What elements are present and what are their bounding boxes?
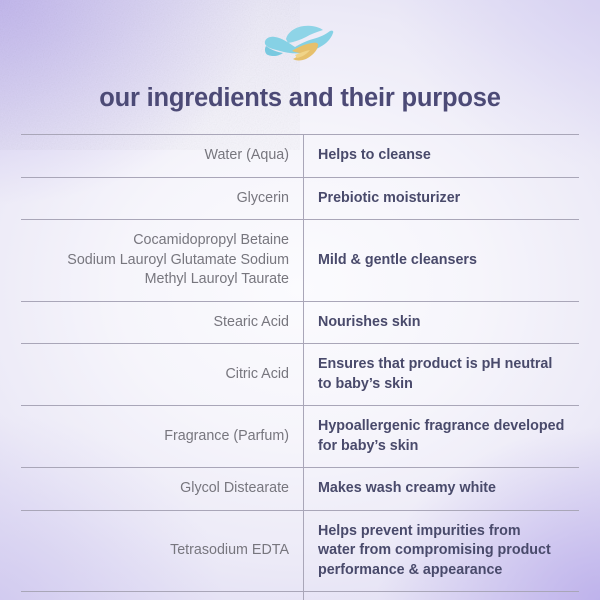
purpose-line: Makes wash creamy white — [318, 479, 496, 499]
ingredient-line: Tetrasodium EDTA — [170, 541, 289, 561]
purpose-line: Ensures that product is pH neutral — [318, 355, 552, 375]
ingredient-cell: Stearic Acid — [21, 302, 303, 344]
table-row: Stearic Acid Nourishes skin — [21, 301, 579, 344]
purpose-cell: Keeps out unwanted bacteria — [303, 592, 579, 600]
ingredient-cell: Glycerin — [21, 178, 303, 220]
ingredient-cell: Fragrance (Parfum) — [21, 406, 303, 467]
purpose-cell: Helps prevent impurities from water from… — [303, 511, 579, 592]
purpose-line: Hypoallergenic fragrance developed — [318, 417, 564, 437]
ingredient-line: Fragrance (Parfum) — [164, 427, 289, 447]
page-title: our ingredients and their purpose — [0, 84, 600, 113]
table-row: Water (Aqua) Helps to cleanse — [21, 134, 579, 177]
table-row: Fragrance (Parfum) Hypoallergenic fragra… — [21, 405, 579, 467]
table-row: Caprylyl Glycol, Sodium Benzoate Keeps o… — [21, 591, 579, 600]
ingredients-infographic: our ingredients and their purpose Water … — [0, 0, 600, 600]
table-row: Tetrasodium EDTA Helps prevent impuritie… — [21, 510, 579, 592]
purpose-line: Prebiotic moisturizer — [318, 189, 460, 209]
ingredient-line: Sodium Lauroyl Glutamate Sodium — [67, 251, 289, 271]
ingredient-line: Water (Aqua) — [205, 146, 289, 166]
ingredient-line: Stearic Acid — [214, 313, 290, 333]
table-row: Glycol Distearate Makes wash creamy whit… — [21, 467, 579, 510]
table-row: Glycerin Prebiotic moisturizer — [21, 177, 579, 220]
purpose-cell: Hypoallergenic fragrance developed for b… — [303, 406, 579, 467]
ingredient-cell: Water (Aqua) — [21, 135, 303, 177]
ingredient-line: Citric Acid — [225, 365, 289, 385]
purpose-line: to baby’s skin — [318, 375, 413, 395]
purpose-line: performance & appearance — [318, 561, 502, 581]
ingredient-cell: Tetrasodium EDTA — [21, 511, 303, 592]
purpose-line: Helps prevent impurities from — [318, 522, 521, 542]
ingredient-line: Glycerin — [237, 189, 289, 209]
table-row: Citric Acid Ensures that product is pH n… — [21, 343, 579, 405]
purpose-cell: Nourishes skin — [303, 302, 579, 344]
purpose-line: Nourishes skin — [318, 313, 421, 333]
ingredient-cell: Caprylyl Glycol, Sodium Benzoate — [21, 592, 303, 600]
ingredient-cell: Cocamidopropyl Betaine Sodium Lauroyl Gl… — [21, 220, 303, 301]
ingredients-table: Water (Aqua) Helps to cleanse Glycerin P… — [21, 134, 579, 600]
purpose-line: Mild & gentle cleansers — [318, 251, 477, 271]
purpose-cell: Ensures that product is pH neutral to ba… — [303, 344, 579, 405]
purpose-line: Helps to cleanse — [318, 146, 431, 166]
dove-bird-icon — [262, 22, 338, 68]
purpose-cell: Prebiotic moisturizer — [303, 178, 579, 220]
purpose-line: water from compromising product — [318, 541, 551, 561]
purpose-cell: Helps to cleanse — [303, 135, 579, 177]
ingredient-line: Cocamidopropyl Betaine — [133, 231, 289, 251]
purpose-line: for baby’s skin — [318, 437, 418, 457]
purpose-cell: Mild & gentle cleansers — [303, 220, 579, 301]
purpose-cell: Makes wash creamy white — [303, 468, 579, 510]
ingredient-cell: Citric Acid — [21, 344, 303, 405]
ingredient-line: Methyl Lauroyl Taurate — [145, 270, 289, 290]
table-row: Cocamidopropyl Betaine Sodium Lauroyl Gl… — [21, 219, 579, 301]
brand-logo — [0, 0, 600, 68]
ingredient-line: Glycol Distearate — [180, 479, 289, 499]
ingredient-cell: Glycol Distearate — [21, 468, 303, 510]
